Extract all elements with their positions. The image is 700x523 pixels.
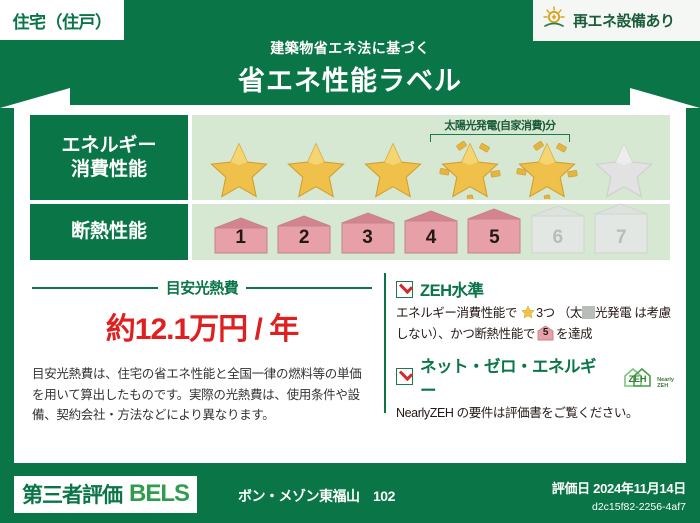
zeh-standard-title: ZEH水準	[420, 277, 484, 301]
bels-energy-label: 住宅（住戸） 再エネ設備あり 建築物省エネ法に基づく 省エネ性能ラベル	[0, 0, 700, 523]
star-5-filled	[516, 137, 578, 195]
insulation-grade-scale: 1 2 3 4 5 6	[210, 203, 652, 254]
rule-right	[246, 287, 372, 289]
renewable-badge-label: 再エネ設備あり	[573, 10, 675, 31]
energy-label-line1: エネルギー	[61, 134, 156, 158]
zeh-net-zero-title-row: ネット・ゼロ・エネルギー ZEH Nearly ZEH	[396, 353, 674, 401]
utility-cost-heading-label: 目安光熱費	[166, 277, 239, 298]
zeh-standard-title-row: ZEH水準	[396, 277, 674, 301]
insulation-grade-6: 6	[527, 205, 588, 254]
property-name: ボン・メゾン東福山 102	[238, 486, 395, 506]
insulation-grade-3: 3	[337, 212, 398, 254]
insulation-grade-number: 3	[337, 227, 398, 249]
label-heading: 建築物省エネ法に基づく 省エネ性能ラベル	[0, 38, 700, 98]
insulation-grade-4: 4	[400, 210, 461, 254]
insulation-performance-value: 1 2 3 4 5 6	[192, 204, 670, 260]
svg-text:ZEH: ZEH	[629, 374, 647, 384]
utility-cost-value: 約12.1万円 / 年	[32, 304, 372, 348]
insulation-grade-7: 7	[591, 203, 652, 254]
star-2-filled	[285, 137, 347, 195]
insulation-grade-number: 4	[400, 227, 461, 249]
insulation-performance-row: 断熱性能 1 2 3 4	[30, 204, 670, 260]
energy-performance-label: エネルギー 消費性能	[30, 115, 188, 200]
bels-certification-tag: 第三者評価 BELS	[14, 476, 197, 513]
zeh-desc-part1: エネルギー消費性能で	[396, 306, 517, 320]
utility-cost-block: 目安光熱費 約12.1万円 / 年 目安光熱費は、住宅の省エネ性能と全国一律の燃…	[32, 277, 372, 426]
insulation-label-text: 断熱性能	[71, 220, 147, 244]
page-title: 省エネ性能ラベル	[0, 59, 700, 98]
rule-left	[32, 287, 158, 289]
star-3-filled	[362, 137, 424, 195]
utility-cost-note: 目安光熱費は、住宅の省エネ性能と全国一律の燃料等の単価を用いて算出したものです。…	[32, 364, 372, 426]
heading-subtitle: 建築物省エネ法に基づく	[0, 38, 700, 58]
energy-label-line2: 消費性能	[71, 158, 147, 182]
zeh-standard-description: エネルギー消費性能で 3つ （太光発電 は考慮しない）、かつ断熱性能で 5 を達…	[396, 304, 674, 345]
zeh-net-zero-description: NearlyZEH の要件は評価書をご覧ください。	[396, 404, 674, 423]
insulation-grade-5: 5	[464, 208, 525, 254]
zeh-item-net-zero: ネット・ゼロ・エネルギー ZEH Nearly ZEH NearlyZEH	[396, 353, 674, 423]
housing-type-label: 住宅（住戸）	[13, 8, 112, 33]
zeh-item-standard: ZEH水準 エネルギー消費性能で 3つ （太光発電 は考慮しない）、かつ断熱性能…	[396, 277, 674, 345]
third-party-label: 第三者評価	[22, 479, 122, 509]
label-footer: 第三者評価 BELS ボン・メゾン東福山 102 評価日 2024年11月14日…	[0, 465, 700, 523]
star-icon	[521, 305, 535, 325]
insulation-grade-inline-number: 5	[537, 325, 554, 340]
insulation-performance-label: 断熱性能	[30, 204, 188, 260]
star-4-filled	[439, 137, 501, 195]
zeh-desc-part4: を達成	[556, 327, 592, 341]
zeh-desc-star-count: 3つ （太	[536, 306, 582, 320]
solar-sun-icon	[541, 5, 567, 36]
energy-performance-value: 太陽光発電(自家消費)分	[192, 115, 670, 200]
zeh-certification-block: ZEH水準 エネルギー消費性能で 3つ （太光発電 は考慮しない）、かつ断熱性能…	[396, 277, 674, 431]
insulation-grade-number: 1	[210, 227, 271, 249]
evaluation-date: 評価日 2024年11月14日	[552, 478, 686, 497]
solar-annotation-label: 太陽光発電(自家消費)分	[416, 117, 584, 133]
bels-logo-text: BELS	[129, 480, 189, 508]
renewable-energy-badge: 再エネ設備あり	[533, 0, 700, 41]
insulation-grade-number: 5	[464, 227, 525, 249]
zeh-net-zero-checkbox[interactable]	[396, 368, 413, 385]
zeh-house-logo: ZEH Nearly ZEH	[621, 365, 674, 389]
insulation-grade-inline-icon: 5	[537, 325, 554, 340]
star-1-filled	[208, 137, 270, 195]
insulation-grade-1: 1	[210, 217, 271, 254]
zeh-desc-part2: 光発電	[595, 306, 631, 320]
label-body-panel: エネルギー 消費性能 太陽光発電(自家消費)分	[14, 105, 686, 463]
obscured-char	[582, 306, 595, 319]
zeh-net-zero-title: ネット・ゼロ・エネルギー	[420, 353, 610, 401]
star-6-empty	[593, 137, 655, 195]
zeh-logo-caption: Nearly ZEH	[657, 377, 674, 389]
insulation-grade-2: 2	[273, 215, 334, 254]
insulation-grade-number: 7	[591, 227, 652, 249]
zeh-logo-caption-line2: ZEH	[657, 383, 668, 389]
evaluation-id: d2c15f82-2256-4af7	[592, 501, 686, 513]
insulation-grade-number: 2	[273, 227, 334, 249]
utility-cost-heading: 目安光熱費	[32, 277, 372, 298]
energy-star-rating	[200, 137, 662, 195]
zeh-standard-checkbox[interactable]	[396, 281, 413, 298]
vertical-divider	[384, 273, 386, 413]
energy-performance-row: エネルギー 消費性能 太陽光発電(自家消費)分	[30, 115, 670, 200]
housing-type-tag: 住宅（住戸）	[0, 0, 124, 40]
insulation-grade-number: 6	[527, 227, 588, 249]
